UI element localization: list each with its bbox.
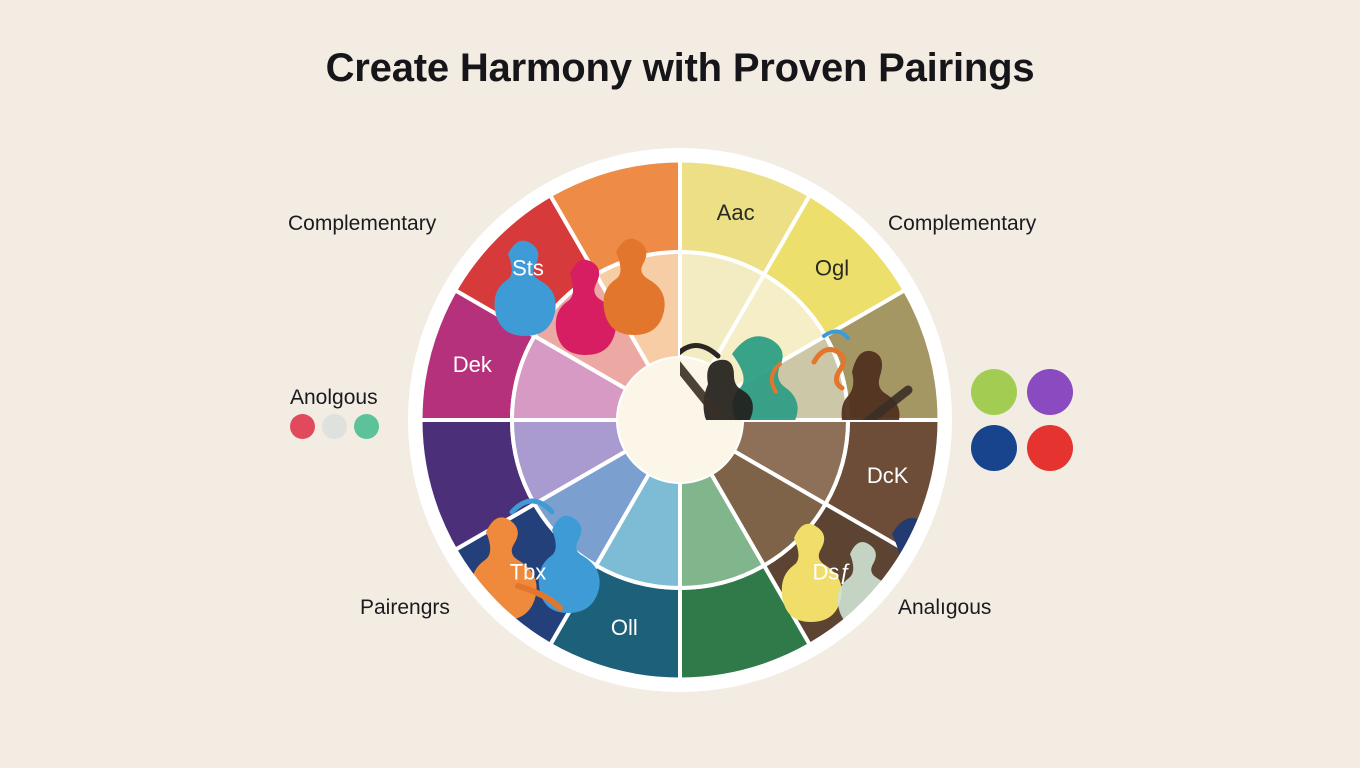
label-complementary-right: Complementary (888, 212, 1036, 236)
palette-swatch-red[interactable] (1027, 425, 1073, 471)
label-complementary-left: Complementary (288, 212, 436, 236)
wheel-segment-label: Dsƒ (812, 560, 851, 585)
palette-swatch-grid (968, 366, 1076, 474)
analogous-swatch-mint-green[interactable] (354, 414, 379, 439)
palette-swatch-purple[interactable] (1027, 369, 1073, 415)
color-wheel: AacOglDcKDsƒOllTbxDekSts (400, 140, 960, 700)
palette-swatch-yellow-green[interactable] (971, 369, 1017, 415)
slide-canvas: Create Harmony with Proven Pairings (0, 0, 1360, 768)
palette-swatch-navy-blue[interactable] (971, 425, 1017, 471)
label-analogous-right: Analıgous (898, 596, 991, 620)
analogous-swatch-light-gray[interactable] (322, 414, 347, 439)
page-title: Create Harmony with Proven Pairings (0, 46, 1360, 91)
analogous-swatch-row (290, 414, 379, 439)
label-pairings: Pairengrs (360, 596, 450, 620)
wheel-segment-label: Sts (512, 255, 544, 280)
color-wheel-svg: AacOglDcKDsƒOllTbxDekSts (400, 140, 960, 700)
wheel-segment-label: Dek (453, 352, 493, 377)
wheel-segment-label: DcK (867, 463, 909, 488)
wheel-segment-label: Oll (611, 615, 638, 640)
label-analogous-left: Anolgous (290, 386, 378, 410)
analogous-swatch-red[interactable] (290, 414, 315, 439)
wheel-segment-label: Tbx (510, 560, 547, 585)
wheel-segment-label: Ogl (815, 255, 849, 280)
wheel-segment-label: Aac (717, 200, 755, 225)
